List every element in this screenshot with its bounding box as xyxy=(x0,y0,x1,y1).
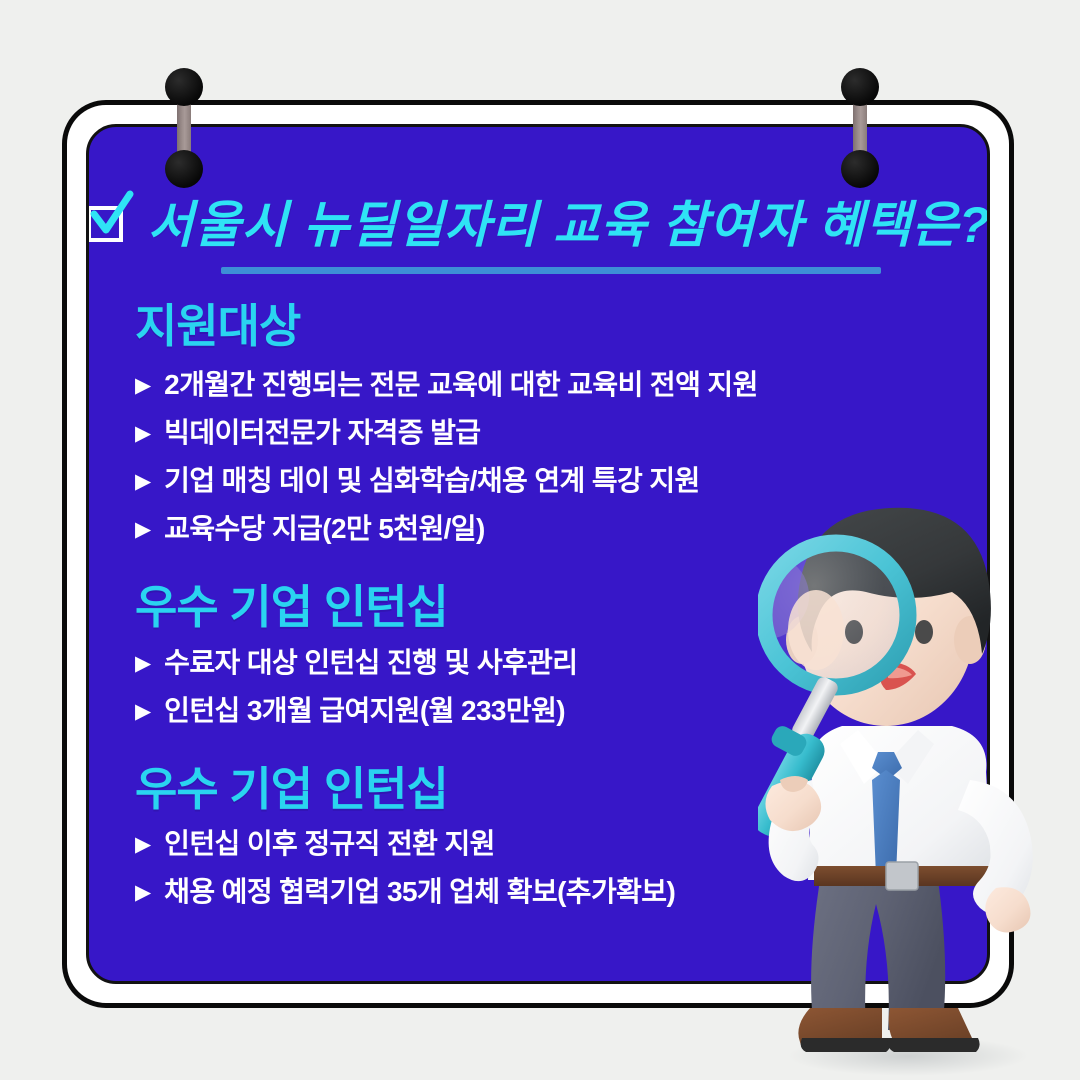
list-item-label: 빅데이터전문가 자격증 발급 xyxy=(164,415,480,450)
list-item-label: 인턴십 3개월 급여지원(월 233만원) xyxy=(164,693,565,728)
page-title: 서울시 뉴딜일자리 교육 참여자 혜택은? xyxy=(147,185,990,257)
list-item: ▶ 빅데이터전문가 자격증 발급 xyxy=(135,415,965,450)
bullet-triangle-icon: ▶ xyxy=(135,471,151,492)
list-item: ▶ 2개월간 진행되는 전문 교육에 대한 교육비 전액 지원 xyxy=(135,367,965,402)
hand-right xyxy=(985,887,1030,932)
businessman-with-magnifier xyxy=(758,480,1080,1080)
pin-knob-bottom xyxy=(165,150,203,188)
bullet-triangle-icon: ▶ xyxy=(135,701,151,722)
list-item-label: 수료자 대상 인턴십 진행 및 사후관리 xyxy=(164,645,577,680)
checkmark-glyph xyxy=(86,190,135,242)
tie-body xyxy=(872,770,900,876)
bullet-triangle-icon: ▶ xyxy=(135,423,151,444)
checkbox-checked-icon xyxy=(86,200,127,242)
section-heading: 지원대상 xyxy=(135,299,965,353)
bullet-triangle-icon: ▶ xyxy=(135,882,151,903)
trousers xyxy=(811,880,945,1030)
shoe-sole-left xyxy=(801,1038,891,1052)
list-item-label: 채용 예정 협력기업 35개 업체 확보(추가확보) xyxy=(164,874,675,909)
pin-knob-top xyxy=(841,68,879,106)
title-row: 서울시 뉴딜일자리 교육 참여자 혜택은? xyxy=(89,185,987,257)
bullet-triangle-icon: ▶ xyxy=(135,519,151,540)
pin-knob-top xyxy=(165,68,203,106)
belt-buckle xyxy=(886,862,918,890)
eye-right xyxy=(915,620,933,644)
list-item-label: 교육수당 지급(2만 5천원/일) xyxy=(164,511,485,546)
bullet-triangle-icon: ▶ xyxy=(135,653,151,674)
list-item-label: 기업 매칭 데이 및 심화학습/채용 연계 특강 지원 xyxy=(164,463,699,498)
pin-knob-bottom xyxy=(841,150,879,188)
title-underline xyxy=(221,267,881,274)
shoe-sole-right xyxy=(888,1038,980,1052)
list-item-label: 2개월간 진행되는 전문 교육에 대한 교육비 전액 지원 xyxy=(164,367,758,402)
bullet-triangle-icon: ▶ xyxy=(135,834,151,855)
bullet-triangle-icon: ▶ xyxy=(135,375,151,396)
list-item-label: 인턴십 이후 정규직 전환 지원 xyxy=(164,826,495,861)
